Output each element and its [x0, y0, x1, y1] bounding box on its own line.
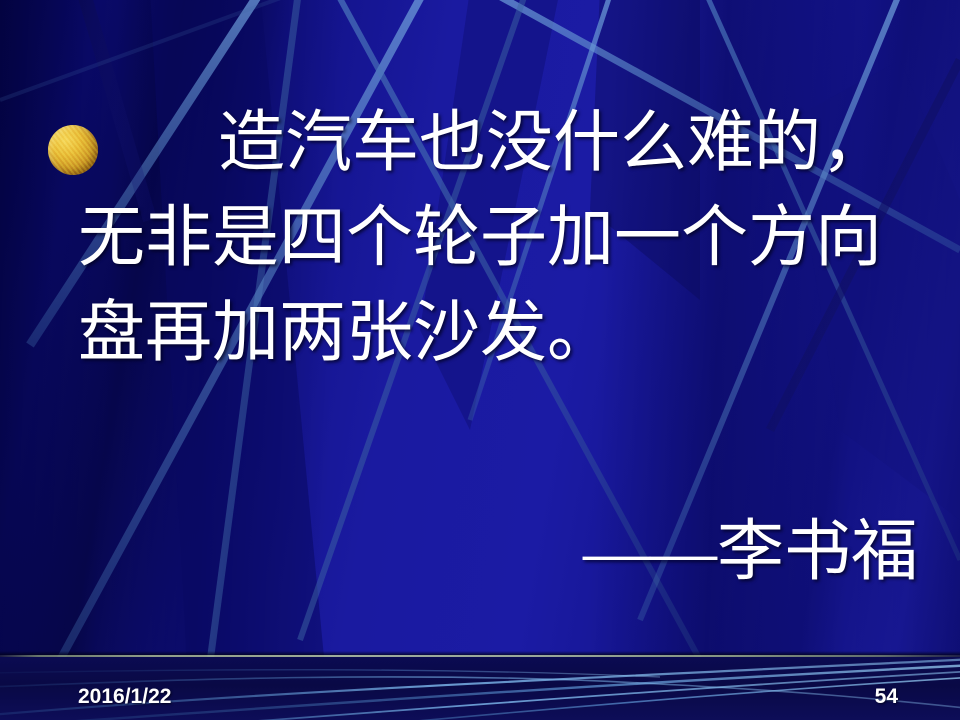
- quote-attribution: ——李书福: [78, 505, 918, 600]
- slide-body-text: 造汽车也没什么难的，无非是四个轮子加一个方向盘再加两张沙发。: [78, 96, 918, 381]
- footer-page-number: 54: [875, 686, 898, 708]
- body-paragraph: 造汽车也没什么难的，无非是四个轮子加一个方向盘再加两张沙发。: [78, 106, 888, 370]
- footer-date: 2016/1/22: [78, 686, 171, 708]
- presentation-slide: 造汽车也没什么难的，无非是四个轮子加一个方向盘再加两张沙发。 ——李书福: [0, 0, 960, 720]
